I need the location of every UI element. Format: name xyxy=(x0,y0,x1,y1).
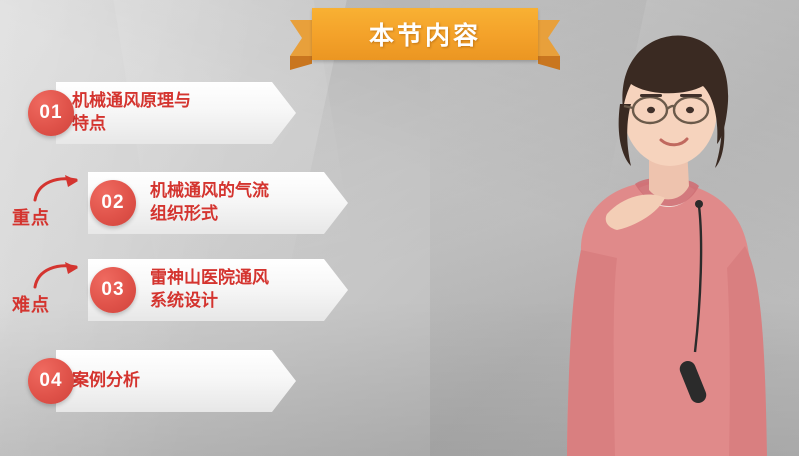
agenda-tag: 难点 xyxy=(12,291,50,317)
curved-arrow-icon xyxy=(32,174,84,204)
agenda-row[interactable]: 难点 03 雷神山医院通风 系统设计 xyxy=(10,259,370,321)
curved-arrow-icon xyxy=(32,261,84,291)
agenda-label: 雷神山医院通风 系统设计 xyxy=(150,267,269,313)
agenda-number-badge: 02 xyxy=(90,180,136,226)
page-title: 本节内容 xyxy=(369,16,481,52)
agenda-row[interactable]: 重点 02 机械通风的气流 组织形式 xyxy=(10,172,370,234)
agenda-row[interactable]: 04 案例分析 xyxy=(10,350,310,412)
slide-canvas: 本节内容 01 机械通风原理与 特点 重点 02 机械通风的气流 组织形式 难点 xyxy=(0,0,799,456)
agenda-number-badge: 01 xyxy=(28,90,74,136)
agenda-tag: 重点 xyxy=(12,204,50,230)
agenda-label: 机械通风原理与 特点 xyxy=(72,90,191,136)
presenter-video xyxy=(489,0,799,456)
agenda-tag-group: 难点 xyxy=(10,259,84,321)
agenda-row[interactable]: 01 机械通风原理与 特点 xyxy=(10,82,310,144)
agenda-label: 案例分析 xyxy=(72,370,140,393)
agenda-number-badge: 04 xyxy=(28,358,74,404)
ribbon-fold-left xyxy=(290,56,312,70)
agenda-tag-group: 重点 xyxy=(10,172,84,234)
agenda-number-badge: 03 xyxy=(90,267,136,313)
agenda-label: 机械通风的气流 组织形式 xyxy=(150,180,269,226)
